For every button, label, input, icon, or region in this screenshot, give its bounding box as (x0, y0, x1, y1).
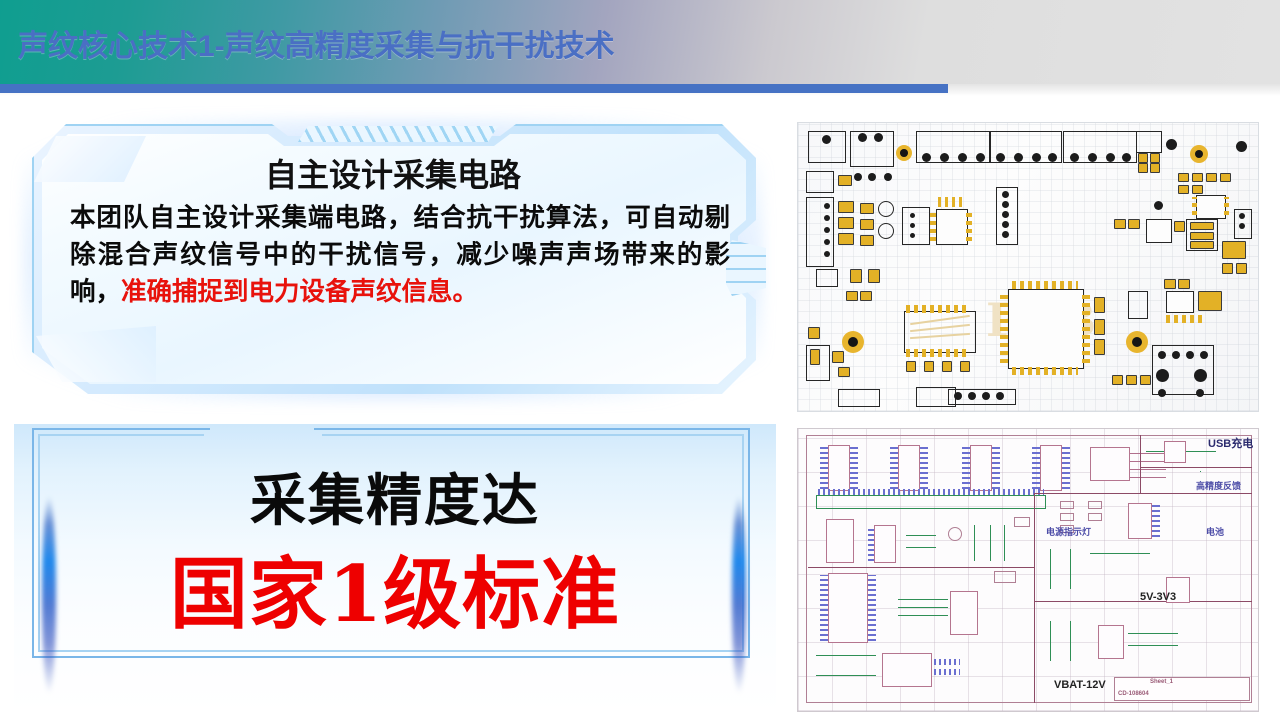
pcb-pad (846, 291, 858, 301)
pcb-via (1200, 351, 1208, 359)
pcb-via (996, 392, 1004, 400)
pcb-via (1032, 153, 1041, 162)
pcb-outline (878, 201, 894, 217)
pcb-via (982, 392, 990, 400)
stat-headline: 采集精度达 (14, 456, 776, 537)
pcb-pad (1206, 173, 1217, 182)
pcb-pad (1112, 375, 1123, 385)
schematic-net (990, 525, 991, 561)
pcb-via (1088, 153, 1097, 162)
pcb-via (854, 173, 862, 181)
circuit-schematic-image: USB充电 高精度反馈 电源指示灯 电池 5V-3V3 VBAT-12V She… (797, 428, 1259, 712)
schematic-net (816, 655, 876, 656)
pcb-via (954, 392, 962, 400)
schematic-ic (1098, 625, 1124, 659)
schematic-ic (950, 591, 978, 635)
pcb-pad (838, 217, 854, 229)
pcb-pad (1178, 173, 1189, 182)
schematic-ic-pins (890, 447, 898, 489)
pcb-pad (850, 269, 862, 283)
pcb-via (1002, 211, 1009, 218)
pcb-via (824, 227, 830, 233)
pcb-pad (1114, 219, 1126, 229)
schematic-divider (1034, 493, 1252, 494)
pcb-via (1002, 231, 1009, 238)
schematic-title-block (1114, 677, 1250, 701)
pcb-pad (1140, 375, 1151, 385)
schematic-net (1004, 525, 1005, 561)
schematic-net (1130, 453, 1166, 454)
schematic-ic (882, 653, 932, 687)
pcb-pad (1190, 241, 1214, 249)
pcb-via (910, 223, 915, 228)
schematic-label-usb: USB充电 (1208, 435, 1253, 451)
stat-value: 国家1级标准 (14, 532, 776, 644)
stat-card: 采集精度达 国家1级标准 (14, 424, 776, 714)
schematic-net (816, 675, 876, 676)
schematic-net (1128, 645, 1178, 646)
tech-card-heading: 自主设计采集电路 (68, 150, 718, 196)
schematic-net (1186, 451, 1216, 452)
schematic-bus (816, 495, 1046, 509)
schematic-bus-pins (818, 489, 1044, 495)
pcb-chip (1146, 219, 1172, 243)
pcb-via (940, 153, 949, 162)
pcb-via (996, 153, 1005, 162)
pcb-outline (850, 131, 894, 167)
pcb-via (1166, 139, 1177, 150)
pcb-pad (1094, 297, 1105, 313)
pcb-via (824, 203, 830, 209)
schematic-divider (1034, 493, 1035, 703)
schematic-net (1128, 633, 1178, 634)
schematic-ic-pins (934, 669, 960, 675)
pcb-outline (1136, 131, 1162, 153)
schematic-component (1060, 513, 1074, 521)
pcb-pad (838, 201, 854, 213)
pcb-chip-pins (1224, 197, 1229, 215)
pcb-mount-hole (1126, 331, 1148, 353)
schematic-divider (808, 567, 1034, 568)
pcb-outline (838, 389, 880, 407)
schematic-ic-pins (1152, 505, 1160, 537)
pcb-dip-pins (906, 349, 970, 357)
schematic-ic-pins (850, 447, 858, 489)
pcb-pad (1192, 173, 1203, 182)
tech-frame-hatch-strip-icon (298, 126, 498, 142)
schematic-ic-pins (962, 447, 970, 489)
schematic-sheet-name: Sheet_1 (1150, 679, 1173, 685)
pcb-via (976, 153, 985, 162)
pcb-via (958, 153, 967, 162)
stat-frame-top-segment-right (314, 428, 750, 430)
pcb-main-mcu (1008, 289, 1084, 369)
schematic-component (1088, 513, 1102, 521)
pcb-outline (1128, 291, 1148, 319)
pcb-chip (1196, 195, 1226, 219)
schematic-border (806, 435, 1252, 703)
pcb-via (1070, 153, 1079, 162)
pcb-pad (860, 291, 872, 301)
pcb-via (968, 392, 976, 400)
pcb-mcu-pins (1000, 293, 1008, 363)
pcb-pad (1128, 219, 1140, 229)
pcb-via (1158, 351, 1166, 359)
schematic-net (1130, 461, 1166, 462)
schematic-label-5v-3v3: 5V-3V3 (1140, 591, 1176, 603)
schematic-ic-pins (820, 447, 828, 489)
schematic-ic (874, 525, 896, 563)
schematic-ic (970, 445, 992, 491)
schematic-net (1130, 477, 1166, 478)
pcb-pad (860, 235, 874, 246)
pcb-pad (1138, 163, 1148, 173)
pcb-outline (816, 269, 838, 287)
pcb-pad (1192, 185, 1203, 194)
pcb-mount-hole (896, 145, 912, 161)
stat-frame-inner-top-segment-left (38, 434, 204, 436)
pcb-via (824, 215, 830, 221)
pcb-pad (960, 361, 970, 372)
schematic-ic (1040, 445, 1062, 491)
schematic-mcu (828, 573, 868, 643)
pcb-chip (1166, 291, 1194, 313)
pcb-pad (1150, 163, 1160, 173)
pcb-via (1194, 369, 1207, 382)
pcb-pad (1236, 263, 1247, 274)
pcb-layout-image: PCB (797, 122, 1259, 412)
slide-root: 声纹核心技术1-声纹高精度采集与抗干扰技术 自主设计采集电路 本团队自主设计采集… (0, 0, 1280, 720)
pcb-via (824, 239, 830, 245)
pcb-via (1158, 389, 1166, 397)
pcb-mount-hole (842, 331, 864, 353)
tech-card-body: 本团队自主设计采集端电路，结合抗干扰算法，可自动剔除混合声纹信号中的干扰信号，减… (70, 200, 730, 311)
schematic-label-vbat-12v: VBAT-12V (1054, 679, 1106, 691)
schematic-ic (1128, 503, 1152, 539)
schematic-ic (1090, 447, 1130, 481)
schematic-net (1070, 621, 1071, 661)
tech-body-highlight: 准确捕捉到电力设备声纹信息 (121, 277, 453, 307)
pcb-chip-pins (966, 211, 972, 241)
pcb-via (884, 173, 892, 181)
pcb-chip (936, 209, 968, 245)
pcb-chip-pins (1192, 197, 1197, 215)
schematic-label-battery: 电池 (1206, 525, 1224, 538)
schematic-net (1130, 469, 1166, 470)
pcb-pad (1178, 185, 1189, 194)
schematic-component (1060, 501, 1074, 509)
pcb-pad (868, 269, 880, 283)
pcb-pad (1190, 232, 1214, 240)
pcb-via (910, 213, 915, 218)
pcb-pad (1198, 291, 1222, 311)
pcb-pad (924, 361, 934, 372)
schematic-net (1146, 451, 1164, 452)
title-accent-underline (0, 84, 948, 93)
schematic-net (974, 525, 975, 561)
schematic-component (994, 571, 1016, 583)
schematic-net (898, 599, 948, 600)
pcb-mcu-pins (1012, 281, 1078, 289)
pcb-via (1172, 351, 1180, 359)
pcb-outline (902, 207, 930, 245)
schematic-net (906, 547, 936, 548)
schematic-net (1090, 553, 1150, 554)
pcb-pad (1094, 319, 1105, 335)
schematic-ic-pins (868, 527, 874, 561)
schematic-component (1088, 501, 1102, 509)
pcb-via (874, 133, 883, 142)
pcb-pad (942, 361, 952, 372)
pcb-outline (878, 223, 894, 239)
pcb-via (1156, 369, 1169, 382)
stat-frame-top-segment-left (32, 428, 210, 430)
pcb-dip-pins (906, 305, 970, 313)
pcb-mcu-pins (1082, 293, 1090, 363)
pcb-pad (1222, 241, 1246, 259)
pcb-via (824, 251, 830, 257)
pcb-mcu-pins (1012, 367, 1078, 375)
schematic-net (1050, 621, 1051, 661)
schematic-ic (828, 445, 850, 491)
schematic-net (1050, 549, 1051, 589)
tech-body-tail: 。 (453, 277, 479, 307)
schematic-usb-ic (1164, 441, 1186, 463)
pcb-pad (832, 351, 844, 363)
pcb-via (922, 153, 931, 162)
pcb-via (1239, 223, 1245, 229)
pcb-pad (1126, 375, 1137, 385)
pcb-pad (838, 175, 852, 186)
schematic-ic-pins (1032, 447, 1040, 489)
pcb-via (868, 173, 876, 181)
pcb-pad (1138, 153, 1148, 163)
pcb-chip-pins (1166, 315, 1206, 323)
pcb-via (1154, 201, 1163, 210)
schematic-net (898, 615, 948, 616)
pcb-via (1196, 389, 1204, 397)
schematic-ic (898, 445, 920, 491)
pcb-outline (806, 197, 834, 267)
pcb-pad (906, 361, 916, 372)
pcb-mount-hole (1190, 145, 1208, 163)
pcb-via (1122, 153, 1131, 162)
pcb-pad (1220, 173, 1231, 182)
pcb-pad (808, 327, 820, 339)
pcb-pad (810, 349, 820, 365)
pcb-pad (1222, 263, 1233, 274)
pcb-via (1106, 153, 1115, 162)
schematic-ic-pins (934, 659, 960, 665)
pcb-pad (1190, 222, 1214, 230)
page-title: 声纹核心技术1-声纹高精度采集与抗干扰技术 (18, 21, 615, 65)
schematic-divider (1140, 435, 1141, 493)
pcb-pad (1178, 279, 1190, 289)
schematic-ic-pins (1062, 447, 1070, 489)
pcb-chip-pins (938, 197, 964, 207)
schematic-label-feedback: 高精度反馈 (1196, 479, 1241, 492)
tech-frame-card: 自主设计采集电路 本团队自主设计采集端电路，结合抗干扰算法，可自动剔除混合声纹信… (8, 112, 778, 408)
schematic-net (898, 607, 948, 608)
schematic-ic (826, 519, 854, 563)
pcb-pad (838, 233, 854, 245)
schematic-net (1070, 549, 1071, 589)
pcb-pad (1164, 279, 1176, 289)
pcb-via (1186, 351, 1194, 359)
schematic-net (1200, 471, 1201, 472)
stat-frame-inner-top-segment-right (322, 434, 744, 436)
pcb-pad (1150, 153, 1160, 163)
schematic-ic-pins (992, 447, 1000, 489)
pcb-via (1236, 141, 1247, 152)
pcb-via (1002, 191, 1009, 198)
pcb-via (1002, 221, 1009, 228)
pcb-via (1239, 213, 1245, 219)
schematic-divider (1140, 467, 1252, 468)
schematic-sheet-code: CD-108604 (1118, 691, 1149, 697)
schematic-ic-pins (920, 447, 928, 489)
pcb-outline (806, 171, 834, 193)
tech-frame-right-notch-icon (726, 240, 766, 296)
pcb-chip-pins (930, 211, 936, 241)
pcb-via (1002, 201, 1009, 208)
schematic-label-power-led: 电源指示灯 (1046, 525, 1091, 538)
pcb-via (822, 135, 831, 144)
schematic-mcu-pins (868, 575, 876, 641)
schematic-component (948, 527, 962, 541)
pcb-via (910, 233, 915, 238)
pcb-via (1048, 153, 1057, 162)
schematic-component (1014, 517, 1030, 527)
pcb-pad (838, 367, 850, 377)
pcb-pad (1094, 339, 1105, 355)
schematic-mcu-pins (820, 575, 828, 641)
pcb-via (858, 133, 867, 142)
pcb-via (1014, 153, 1023, 162)
pcb-pad (860, 219, 874, 230)
pcb-pad (860, 203, 874, 214)
pcb-pad (1174, 221, 1185, 232)
schematic-net (906, 535, 936, 536)
